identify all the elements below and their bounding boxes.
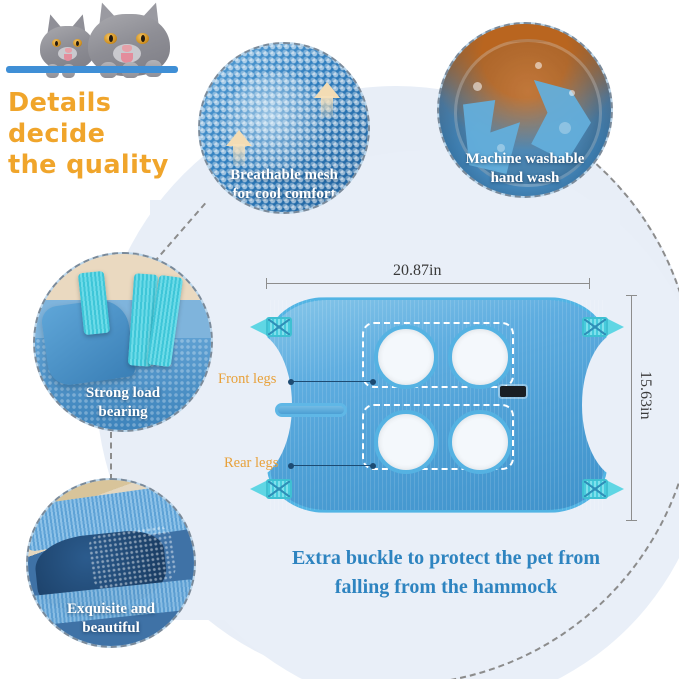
buckle-tip: [606, 318, 624, 336]
velcro-buckle-strap: [275, 403, 347, 417]
caption-line-1: Breathable mesh: [200, 166, 368, 185]
buckle-tip: [606, 480, 624, 498]
dimension-line-height: [631, 295, 632, 521]
bottom-caption: Extra buckle to protect the pet from fal…: [236, 544, 656, 602]
feature-circle-machine-washable[interactable]: Machine washable hand wash: [437, 22, 613, 198]
airflow-arrow-right-icon: [314, 82, 340, 118]
bottom-caption-line-1: Extra buckle to protect the pet from: [236, 544, 656, 573]
dimension-line-width: [266, 283, 590, 284]
feature-caption-breathable-mesh: Breathable mesh for cool comfort: [200, 166, 368, 204]
corner-strap-bottom-left: [250, 474, 308, 504]
feature-caption-strong-load-bearing: Strong load bearing: [35, 384, 211, 422]
bottom-caption-line-2: falling from the hammock: [236, 573, 656, 602]
caption-line-1: Machine washable: [439, 150, 611, 169]
airflow-arrow-left-icon: [226, 130, 252, 166]
leg-hole-rear-right: [448, 410, 512, 474]
caption-line-2: for cool comfort: [200, 185, 368, 204]
caption-line-2: hand wash: [439, 169, 611, 188]
page-title: Details decide the quality: [8, 88, 213, 181]
dimension-label-height: 15.63in: [636, 371, 654, 419]
feature-circle-breathable-mesh[interactable]: Breathable mesh for cool comfort: [198, 42, 370, 214]
leg-hole-front-right: [448, 325, 512, 389]
caption-line-1: Exquisite and: [28, 600, 194, 619]
hammock-waist-notch-right: [582, 330, 668, 480]
product-diagram-hammock[interactable]: [252, 288, 622, 522]
feature-circle-strong-load-bearing[interactable]: Strong load bearing: [33, 252, 213, 432]
caption-line-2: beautiful: [28, 619, 194, 638]
corner-strap-top-right: [566, 312, 624, 342]
divider-bar: [14, 66, 178, 73]
page-title-line-2: the quality: [8, 150, 213, 181]
feature-caption-machine-washable: Machine washable hand wash: [439, 150, 611, 188]
callout-leader-front-legs: [290, 381, 374, 382]
leg-hole-rear-left: [374, 410, 438, 474]
corner-strap-bottom-right: [566, 474, 624, 504]
water-bubble: [559, 122, 571, 134]
caption-line-1: Strong load: [35, 384, 211, 403]
leg-hole-front-left: [374, 325, 438, 389]
dimension-label-width: 20.87in: [393, 262, 441, 280]
callout-label-front-legs: Front legs: [218, 371, 276, 388]
page-title-line-1: Details decide: [8, 88, 213, 150]
corner-strap-top-left: [250, 312, 308, 342]
callout-leader-rear-legs: [290, 465, 374, 466]
feature-caption-exquisite-beautiful: Exquisite and beautiful: [28, 600, 194, 638]
x-stitch-reinforcement: [584, 481, 606, 497]
x-stitch-reinforcement: [268, 319, 290, 335]
callout-label-rear-legs: Rear legs: [224, 455, 278, 472]
care-label-tag: [500, 386, 526, 397]
connector-straps-to-exquisite: [110, 432, 112, 480]
water-bubble: [473, 82, 482, 91]
two-grey-cats-photo: [18, 2, 188, 74]
water-bubble: [569, 90, 575, 96]
infographic-canvas: Details decide the quality Breathable me…: [0, 0, 679, 679]
x-stitch-reinforcement: [268, 481, 290, 497]
caption-line-2: bearing: [35, 403, 211, 422]
water-bubble: [535, 62, 542, 69]
feature-circle-exquisite-beautiful[interactable]: Exquisite and beautiful: [26, 478, 196, 648]
x-stitch-reinforcement: [584, 319, 606, 335]
